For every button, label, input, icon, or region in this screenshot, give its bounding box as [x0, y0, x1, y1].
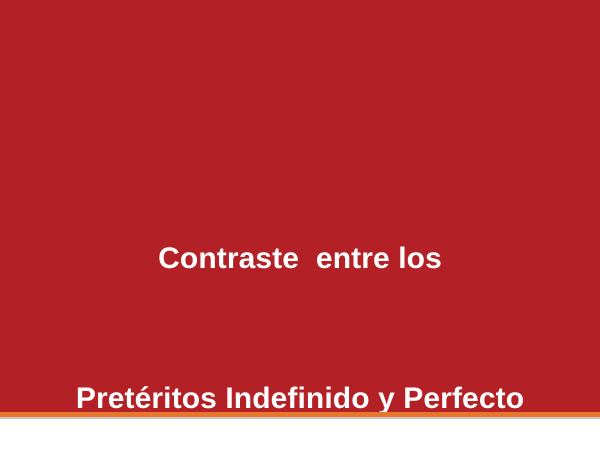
slide-title: Contraste entre los Pretéritos Indefinid… [0, 142, 600, 450]
slide-background: Contraste entre los Pretéritos Indefinid… [0, 0, 600, 412]
presentation-slide: Contraste entre los Pretéritos Indefinid… [0, 0, 600, 450]
slide-title-line-1: Contraste entre los [0, 236, 600, 283]
slide-footer: Mochila 9 º . Espanhol▪3.º Ciclo do Ensi… [0, 419, 600, 450]
